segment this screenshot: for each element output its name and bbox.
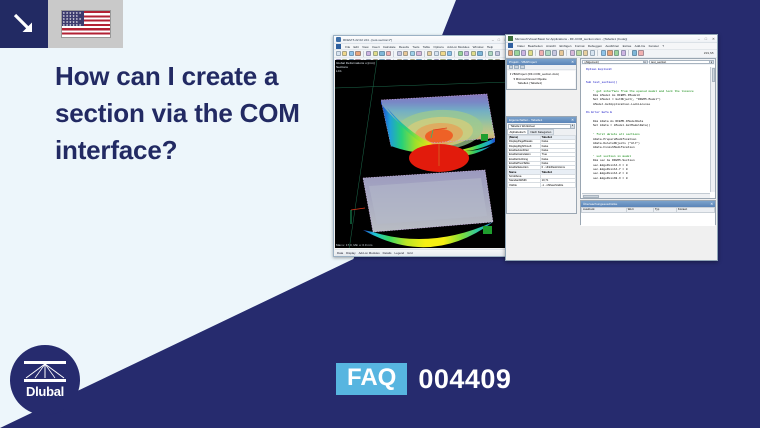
close-icon[interactable]: ✕ bbox=[571, 118, 574, 122]
rfem-menu-item-2[interactable]: View bbox=[362, 45, 369, 49]
watch-column-0[interactable]: Ausdruck bbox=[582, 208, 627, 213]
rfem-toolbar1-icon-1[interactable] bbox=[342, 51, 347, 56]
properties-panel-header[interactable]: Eigenschaften - Tabelle1 ✕ bbox=[507, 117, 576, 123]
watch-empty-area[interactable] bbox=[581, 213, 715, 226]
rfem-menu-item-1[interactable]: Edit bbox=[354, 45, 359, 49]
us-flag-icon: ★★★★★★★★★★★★★★★★★★★★★★★★★★★★ bbox=[61, 10, 111, 38]
code-vertical-scrollbar[interactable] bbox=[710, 67, 715, 192]
vba-project-explorer[interactable]: Projekt - VBAProject ✕ ▾ VBAProject (RF-… bbox=[506, 58, 577, 90]
rfem-menu-item-11[interactable]: Help bbox=[487, 45, 493, 49]
close-icon[interactable]: ✕ bbox=[710, 202, 713, 206]
maximize-button[interactable]: □ bbox=[705, 37, 707, 41]
vba-toolbar-icon-8[interactable] bbox=[559, 50, 564, 55]
vba-menu-item-4[interactable]: Format bbox=[575, 44, 585, 48]
vba-toolbar-icon-13[interactable] bbox=[590, 50, 595, 55]
properties-object-value: Tabelle1 Worksheet bbox=[511, 124, 536, 128]
properties-object-combo[interactable]: Tabelle1 Worksheet ▾ bbox=[508, 124, 575, 129]
vba-toolbar-icon-18[interactable] bbox=[621, 50, 626, 55]
vba-toolbar-separator bbox=[628, 50, 629, 56]
rfem-status-tab-5[interactable]: Grid bbox=[407, 251, 412, 255]
vba-menu-item-10[interactable]: ? bbox=[662, 44, 664, 48]
rfem-toolbar1-separator bbox=[363, 51, 364, 57]
scrollbar-thumb[interactable] bbox=[712, 68, 715, 82]
rfem-menu-item-9[interactable]: Add-on Modules bbox=[447, 45, 469, 49]
properties-tab-1[interactable]: Nach Kategorien bbox=[528, 129, 554, 135]
page-title: How can I create a section via the COM i… bbox=[55, 58, 330, 169]
vba-toolbar-separator bbox=[535, 50, 536, 56]
faq-number: 004409 bbox=[418, 366, 511, 393]
rfem-view-footer: Max u: 17.0, Min u: 0.0 mm bbox=[336, 243, 372, 247]
vba-menu-item-5[interactable]: Debuggen bbox=[588, 44, 602, 48]
vba-menu-item-0[interactable]: Datei bbox=[517, 44, 524, 48]
rfem-toolbar1-icon-8[interactable] bbox=[386, 51, 391, 56]
rfem-window[interactable]: RFEM 5.22.02 x64 - [test-section1*] – □ … bbox=[333, 35, 510, 257]
vba-menu-logo-icon bbox=[508, 43, 513, 48]
rfem-menu-logo-icon bbox=[336, 44, 341, 49]
rfem-menu-item-3[interactable]: Insert bbox=[372, 45, 380, 49]
vba-menu-item-1[interactable]: Bearbeiten bbox=[528, 44, 543, 48]
rfem-toolbar1-icon-7[interactable] bbox=[379, 51, 384, 56]
dlubal-bridge-icon bbox=[24, 361, 66, 382]
properties-tab-0[interactable]: Alphabetisch bbox=[507, 129, 528, 135]
vba-toolbar[interactable]: Z19,S5 bbox=[506, 50, 717, 58]
vba-menu-item-9[interactable]: Fenster bbox=[649, 44, 659, 48]
rfem-toolbar1-icon-26[interactable] bbox=[495, 51, 500, 56]
vba-menu-item-6[interactable]: Ausführen bbox=[605, 44, 619, 48]
rfem-toolbar1-separator bbox=[424, 51, 425, 57]
watch-panel-title: Überwachungsausdrücke bbox=[583, 202, 617, 206]
rfem-status-tab-2[interactable]: Add-on Modules bbox=[359, 251, 380, 255]
rfem-toolbar1-icon-20[interactable] bbox=[458, 51, 463, 56]
rfem-menu-item-0[interactable]: File bbox=[345, 45, 350, 49]
rfem-status-tab-3[interactable]: Details bbox=[383, 251, 392, 255]
vba-toolbar-icon-5[interactable] bbox=[539, 50, 544, 55]
rfem-toolbar1-icon-22[interactable] bbox=[471, 51, 476, 56]
code-pane-combos[interactable]: (Allgemein) ▾ test_section ▾ bbox=[581, 59, 715, 65]
slide-root: ★★★★★★★★★★★★★★★★★★★★★★★★★★★★ How can I c… bbox=[0, 0, 760, 428]
rfem-toolbar1-icon-11[interactable] bbox=[403, 51, 408, 56]
rfem-window-title: RFEM 5.22.02 x64 - [test-section1*] bbox=[343, 38, 492, 42]
vba-menu-item-7[interactable]: Extras bbox=[623, 44, 632, 48]
rfem-toolbar1-icon-21[interactable] bbox=[464, 51, 469, 56]
code-object-combo[interactable]: (Allgemein) ▾ bbox=[582, 60, 648, 65]
vba-toolbar-icon-11[interactable] bbox=[576, 50, 581, 55]
project-panel-title: Projekt - VBAProject bbox=[509, 60, 537, 64]
vba-toolbar-icon-21[interactable] bbox=[638, 50, 643, 55]
chevron-down-icon[interactable]: ▾ bbox=[709, 61, 713, 64]
rfem-toolbar1-icon-23[interactable] bbox=[477, 51, 482, 56]
vba-menu-item-3[interactable]: Einfügen bbox=[559, 44, 571, 48]
rfem-toolbar1-icon-5[interactable] bbox=[366, 51, 371, 56]
rfem-status-tab-1[interactable]: Display bbox=[346, 251, 355, 255]
code-editor[interactable]: Option Explicit Sub test_section() ' get… bbox=[582, 67, 710, 192]
properties-row[interactable]: Visible-1 - xlSheetVisible bbox=[508, 183, 576, 187]
chevron-down-icon[interactable]: ▾ bbox=[643, 61, 647, 64]
rfem-toolbar1-icon-12[interactable] bbox=[410, 51, 415, 56]
vba-menu-item-8[interactable]: Add-Ins bbox=[635, 44, 646, 48]
rfem-menu-item-10[interactable]: Window bbox=[473, 45, 484, 49]
vba-app-icon bbox=[508, 36, 513, 41]
vba-toolbar-icon-6[interactable] bbox=[545, 50, 550, 55]
toggle-folders-icon[interactable] bbox=[520, 65, 524, 69]
rfem-toolbar1-icon-18[interactable] bbox=[447, 51, 452, 56]
rfem-toolbar1-icon-17[interactable] bbox=[440, 51, 445, 56]
vba-code-pane[interactable]: (Allgemein) ▾ test_section ▾ Option Expl… bbox=[580, 58, 716, 199]
rfem-app-icon bbox=[336, 37, 341, 42]
rfem-menu-item-8[interactable]: Options bbox=[433, 45, 444, 49]
code-line-25: sec.EdgePointB.X = 0 bbox=[586, 177, 710, 181]
vba-toolbar-icon-20[interactable] bbox=[632, 50, 637, 55]
view-code-icon[interactable] bbox=[509, 65, 513, 69]
scrollbar-thumb[interactable] bbox=[583, 195, 599, 198]
maximize-button[interactable]: □ bbox=[498, 38, 500, 42]
rfem-toolbar1-icon-16[interactable] bbox=[434, 51, 439, 56]
rfem-status-tab-0[interactable]: Data bbox=[337, 251, 343, 255]
rfem-toolbar1-icon-13[interactable] bbox=[416, 51, 421, 56]
vba-properties-panel[interactable]: Eigenschaften - Tabelle1 ✕ Tabelle1 Work… bbox=[506, 116, 577, 214]
properties-table[interactable]: (Name)Tabelle1DisplayPageBreaksFalseDisp… bbox=[507, 135, 576, 188]
arrow-down-right-badge bbox=[0, 0, 48, 48]
vba-toolbar-separator bbox=[566, 50, 567, 56]
vba-toolbar-icon-1[interactable] bbox=[514, 50, 519, 55]
minimize-button[interactable]: – bbox=[492, 38, 494, 42]
close-icon[interactable]: ✕ bbox=[571, 60, 574, 64]
vba-toolbar-icon-7[interactable] bbox=[552, 50, 557, 55]
project-panel-toolbar[interactable] bbox=[507, 65, 576, 70]
vba-toolbar-icon-10[interactable] bbox=[570, 50, 575, 55]
property-key: Visible bbox=[508, 183, 541, 187]
rfem-result-plates bbox=[335, 60, 508, 248]
vba-toolbar-icon-12[interactable] bbox=[583, 50, 588, 55]
watch-column-1[interactable]: Wert bbox=[626, 208, 653, 213]
flag-stars: ★★★★★★★★★★★★★★★★★★★★★★★★★★★★ bbox=[62, 11, 84, 26]
arrow-down-right-icon bbox=[11, 11, 37, 37]
properties-panel-title: Eigenschaften - Tabelle1 bbox=[509, 118, 542, 122]
project-tree-node-2[interactable]: Tabelle1 (Tabelle1) bbox=[510, 81, 574, 86]
code-procedure-value: test_section bbox=[651, 60, 666, 64]
project-tree[interactable]: ▾ VBAProject (RF-COM_section.xlsm)▾ Micr… bbox=[508, 71, 575, 88]
dlubal-logo: Dlubal bbox=[10, 345, 80, 415]
language-flag-badge: ★★★★★★★★★★★★★★★★★★★★★★★★★★★★ bbox=[48, 0, 123, 48]
rfem-toolbar1-separator bbox=[454, 51, 455, 57]
vba-toolbar-icon-16[interactable] bbox=[607, 50, 612, 55]
logo-bar-bottom bbox=[24, 379, 66, 383]
rfem-statusbar[interactable]: DataDisplayAdd-on ModulesDetailsLegendGr… bbox=[335, 249, 508, 256]
vba-menu-item-2[interactable]: Ansicht bbox=[546, 44, 556, 48]
view-object-icon[interactable] bbox=[514, 65, 518, 69]
rfem-menu-item-7[interactable]: Table bbox=[423, 45, 430, 49]
rfem-menu-item-5[interactable]: Results bbox=[399, 45, 409, 49]
rfem-menu-item-4[interactable]: Calculate bbox=[383, 45, 396, 49]
vba-watch-panel[interactable]: Überwachungsausdrücke ✕ AusdruckWertTypK… bbox=[580, 200, 716, 225]
chevron-down-icon[interactable]: ▾ bbox=[570, 124, 574, 128]
rfem-titlebar[interactable]: RFEM 5.22.02 x64 - [test-section1*] – □ … bbox=[334, 36, 509, 44]
rfem-toolbar1-separator bbox=[393, 51, 394, 57]
rfem-toolbar1-icon-0[interactable] bbox=[336, 51, 341, 56]
rfem-toolbar1-icon-15[interactable] bbox=[427, 51, 432, 56]
vba-window-controls[interactable]: – □ ✕ bbox=[698, 37, 715, 41]
rfem-toolbar1-icon-10[interactable] bbox=[397, 51, 402, 56]
rfem-toolbar1-separator bbox=[485, 51, 486, 57]
watch-column-2[interactable]: Typ bbox=[653, 208, 676, 213]
rfem-menu-item-6[interactable]: Tools bbox=[412, 45, 419, 49]
code-procedure-combo[interactable]: test_section ▾ bbox=[649, 60, 715, 65]
vba-toolbar-icon-0[interactable] bbox=[508, 50, 513, 55]
rfem-toolbar1-icon-3[interactable] bbox=[355, 51, 360, 56]
rfem-status-tab-4[interactable]: Legend bbox=[395, 251, 405, 255]
vba-window-title: Microsoft Visual Basic for Applications … bbox=[515, 37, 698, 41]
property-value[interactable]: -1 - xlSheetVisible bbox=[540, 183, 575, 187]
vba-toolbar-icon-15[interactable] bbox=[601, 50, 606, 55]
rfem-3d-viewport[interactable]: Global Deformations u [mm] Sections LC1 bbox=[335, 60, 508, 248]
vba-toolbar-icon-2[interactable] bbox=[521, 50, 526, 55]
faq-badge: FAQ bbox=[336, 363, 407, 395]
rfem-toolbar1-icon-6[interactable] bbox=[373, 51, 378, 56]
watch-column-3[interactable]: Kontext bbox=[676, 208, 714, 213]
minimize-button[interactable]: – bbox=[698, 37, 700, 41]
rfem-toolbar1-icon-2[interactable] bbox=[349, 51, 354, 56]
vba-toolbar-separator bbox=[597, 50, 598, 56]
vba-toolbar-icon-3[interactable] bbox=[528, 50, 533, 55]
close-button[interactable]: ✕ bbox=[712, 37, 715, 41]
vba-titlebar[interactable]: Microsoft Visual Basic for Applications … bbox=[506, 35, 717, 43]
vba-cursor-position: Z19,S5 bbox=[704, 51, 716, 55]
vba-toolbar-icon-17[interactable] bbox=[614, 50, 619, 55]
code-object-value: (Allgemein) bbox=[585, 60, 599, 64]
rfem-toolbar-row-1[interactable] bbox=[334, 50, 509, 58]
rfem-toolbar1-icon-25[interactable] bbox=[488, 51, 493, 56]
faq-footer: FAQ 004409 bbox=[336, 363, 511, 395]
logo-truss bbox=[24, 364, 66, 379]
code-horizontal-scrollbar[interactable] bbox=[582, 193, 710, 198]
brand-name: Dlubal bbox=[26, 384, 64, 399]
